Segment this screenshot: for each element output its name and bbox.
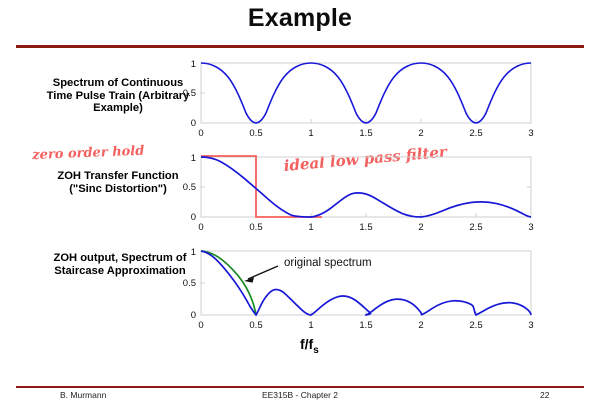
footer-page-number: 22: [540, 390, 549, 400]
chart-3-xtick-1: 1: [308, 320, 313, 331]
chart-1-ytick-05: 0.5: [183, 88, 196, 99]
chart-2-ytick-0: 0: [191, 212, 196, 223]
chart-1-ytick-0: 0: [191, 118, 196, 129]
chart-1-xtick-2: 2: [418, 128, 423, 139]
chart-1-frame: [201, 63, 531, 123]
footer-author: B. Murmann: [60, 390, 106, 400]
chart-3-xtick-0: 0: [198, 320, 203, 331]
chart-1-xtick-15: 1.5: [359, 128, 372, 139]
chart-2-xtick-15: 1.5: [359, 222, 372, 233]
chart-2-xtick-2: 2: [418, 222, 423, 233]
chart-3-ytick-1: 1: [191, 247, 196, 258]
x-axis-caption-sub: s: [313, 345, 319, 356]
chart-1-xtick-0: 0: [198, 128, 203, 139]
chart-1-xtick-3: 3: [528, 128, 533, 139]
chart-3-xtick-25: 2.5: [469, 320, 482, 331]
annotation-original-spectrum: original spectrum: [284, 257, 372, 269]
chart-3-ytick-0: 0: [191, 310, 196, 321]
chart-1-axis-labels: 0 0.5 1 0 0.5 1 1.5 2 2.5 3: [183, 59, 534, 139]
label-zoh-output-staircase: ZOH output, Spectrum of Staircase Approx…: [48, 252, 192, 277]
chart-2-xtick-3: 3: [528, 222, 533, 233]
chart-2-series-ideal-low-pass-filter: [201, 156, 322, 217]
label-zoh-transfer-function: ZOH Transfer Function ("Sinc Distortion"…: [40, 170, 196, 195]
chart-1-svg: 0 0.5 1 0 0.5 1 1.5 2 2.5 3: [180, 56, 540, 148]
chart-1-xtick-1: 1: [308, 128, 313, 139]
chart-3-xtick-3: 3: [528, 320, 533, 331]
chart-1-ytick-1: 1: [191, 59, 196, 70]
chart-3-series-original-spectrum: [201, 251, 256, 315]
chart-zoh-transfer-function: 0 0.5 1 0 0.5 1 1.5 2 2.5 3: [180, 150, 540, 242]
slide-root: Example Spectrum of Continuous Time Puls…: [0, 0, 600, 410]
chart-2-series-sinc: [201, 157, 531, 217]
chart-2-ytick-1: 1: [191, 153, 196, 164]
chart-3-xtick-05: 0.5: [249, 320, 262, 331]
chart-2-xtick-25: 2.5: [469, 222, 482, 233]
chart-2-svg: 0 0.5 1 0 0.5 1 1.5 2 2.5 3: [180, 150, 540, 242]
chart-3-xtick-15: 1.5: [359, 320, 372, 331]
footer-course: EE315B - Chapter 2: [262, 390, 338, 400]
chart-spectrum-continuous-time-pulse-train: 0 0.5 1 0 0.5 1 1.5 2 2.5 3: [180, 56, 540, 148]
footer-divider: [16, 386, 584, 388]
label-spectrum-continuous-time-pulse-train: Spectrum of Continuous Time Pulse Train …: [44, 77, 192, 115]
chart-3-xtick-2: 2: [418, 320, 423, 331]
page-title: Example: [0, 4, 600, 33]
chart-2-xtick-05: 0.5: [249, 222, 262, 233]
x-axis-caption: f/fs: [300, 336, 319, 356]
chart-2-xtick-0: 0: [198, 222, 203, 233]
arrow-to-original-spectrum: [244, 266, 278, 283]
title-divider: [16, 45, 584, 48]
chart-1-xtick-05: 0.5: [249, 128, 262, 139]
annotation-zero-order-hold: zero order hold: [32, 144, 145, 163]
chart-1-xtick-25: 2.5: [469, 128, 482, 139]
chart-1-series-pulse-train: [201, 63, 531, 123]
chart-2-frame: [201, 157, 531, 217]
chart-3-ytick-05: 0.5: [183, 278, 196, 289]
chart-2-ytick-05: 0.5: [183, 182, 196, 193]
x-axis-caption-main: f/f: [300, 336, 313, 352]
chart-2-xtick-1: 1: [308, 222, 313, 233]
